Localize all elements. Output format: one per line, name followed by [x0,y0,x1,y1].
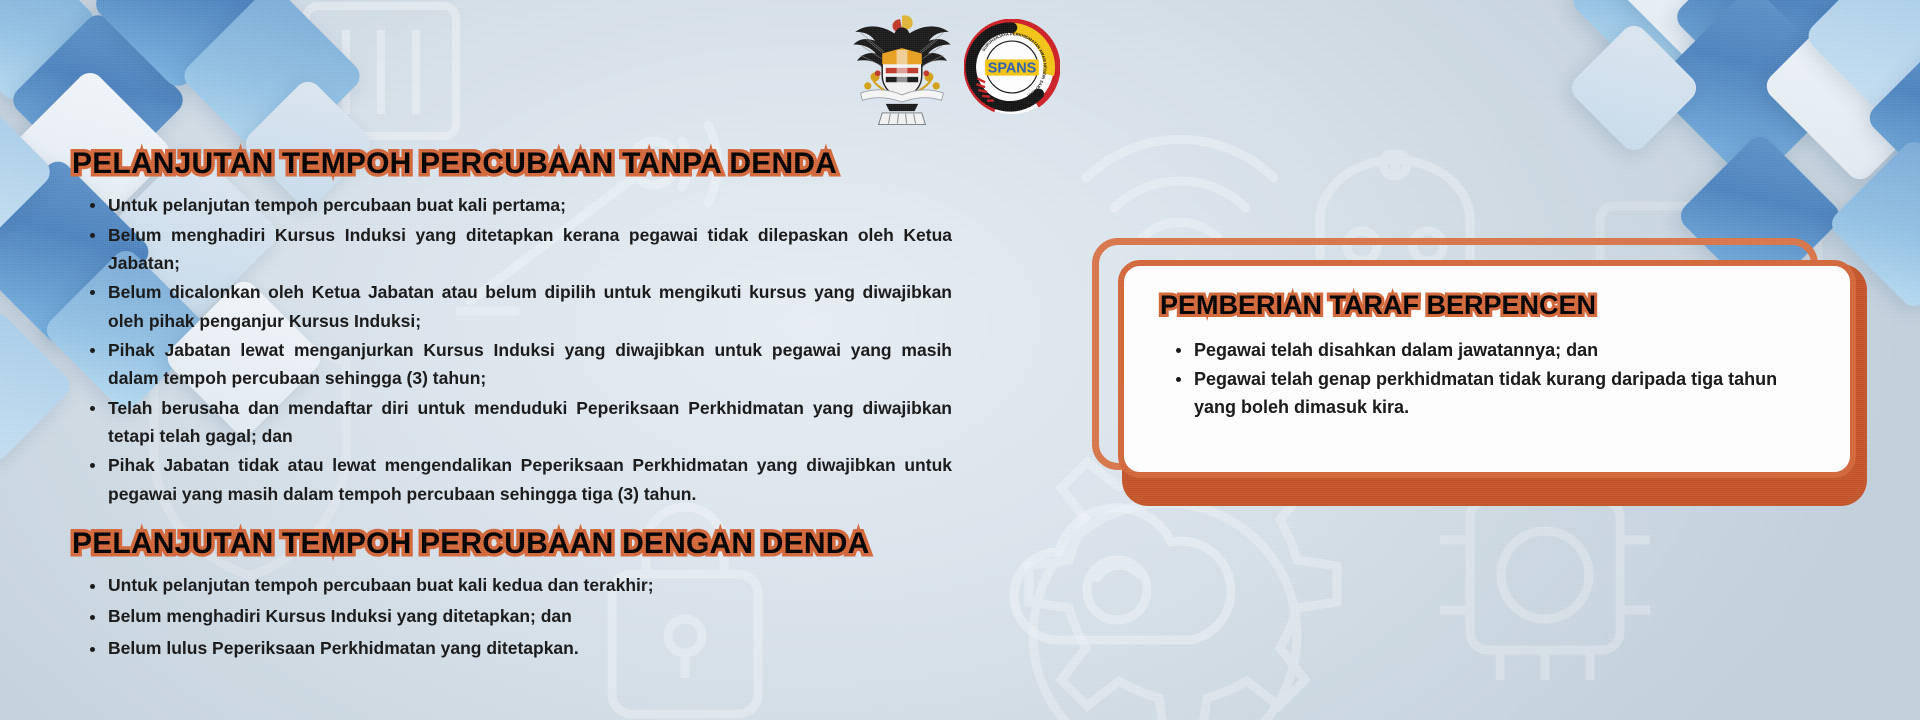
list-item: Belum menghadiri Kursus Induksi yang dit… [86,221,952,278]
spans-logo-icon: SURUHANJAYA PERKHIDMATAN AWAM NEGERI SAR… [964,19,1060,115]
list-item: Untuk pelanjutan tempoh percubaan buat k… [86,191,952,219]
list-item: Belum menghadiri Kursus Induksi yang dit… [86,603,952,631]
list-item: Telah berusaha dan mendaftar diri untuk … [86,394,952,451]
bullet-list-tanpa-denda: Untuk pelanjutan tempoh percubaan buat k… [86,191,952,508]
list-item: Pihak Jabatan tidak atau lewat mengendal… [86,451,952,508]
server-watermark-icon [278,0,488,156]
list-item: Pihak Jabatan lewat menganjurkan Kursus … [86,336,952,393]
left-content-column: PELANJUTAN TEMPOH PERCUBAAN TANPA DENDA … [72,146,952,666]
sarawak-state-crest-icon [848,8,956,126]
list-item: Pegawai telah disahkan dalam jawatannya;… [1172,337,1820,364]
spans-wordmark: SPANS [988,60,1037,76]
section-title-dengan-denda: PELANJUTAN TEMPOH PERCUBAAN DENGAN DENDA [72,526,952,561]
logo-group: SURUHANJAYA PERKHIDMATAN AWAM NEGERI SAR… [848,6,1078,128]
section-title-tanpa-denda: PELANJUTAN TEMPOH PERCUBAAN TANPA DENDA [72,146,952,181]
diamond-shape [1671,0,1866,115]
diamond-shape [179,0,366,169]
diamond-shape [90,0,265,92]
diamond-shape [1568,0,1746,90]
card-body: PEMBERIAN TARAF BERPENCEN Pegawai telah … [1118,260,1856,478]
diamond-shape [0,307,75,465]
bullet-list-dengan-denda: Untuk pelanjutan tempoh percubaan buat k… [86,572,952,663]
diamond-shape [0,0,99,105]
diamond-shape [1803,0,1920,115]
banner-root: SURUHANJAYA PERKHIDMATAN AWAM NEGERI SAR… [0,0,1920,720]
list-item: Belum dicalonkan oleh Ketua Jabatan atau… [86,278,952,335]
list-item: Belum lulus Peperiksaan Perkhidmatan yan… [86,635,952,663]
cloud-sync-watermark-icon [985,490,1275,690]
diamond-shape [1761,0,1920,185]
diamond-shape [1650,0,1854,188]
card-bullet-list: Pegawai telah disahkan dalam jawatannya;… [1172,337,1820,421]
list-item: Pegawai telah genap perkhidmatan tidak k… [1172,366,1820,421]
diamond-shape [1864,36,1920,200]
pemberian-taraf-berpencen-card: PEMBERIAN TARAF BERPENCEN Pegawai telah … [1092,238,1867,506]
diamond-shape [1566,20,1702,156]
list-item: Untuk pelanjutan tempoh percubaan buat k… [86,572,952,600]
card-title: PEMBERIAN TARAF BERPENCEN [1160,290,1820,321]
diamond-shape [1617,0,1790,75]
diamond-shape [0,98,56,245]
